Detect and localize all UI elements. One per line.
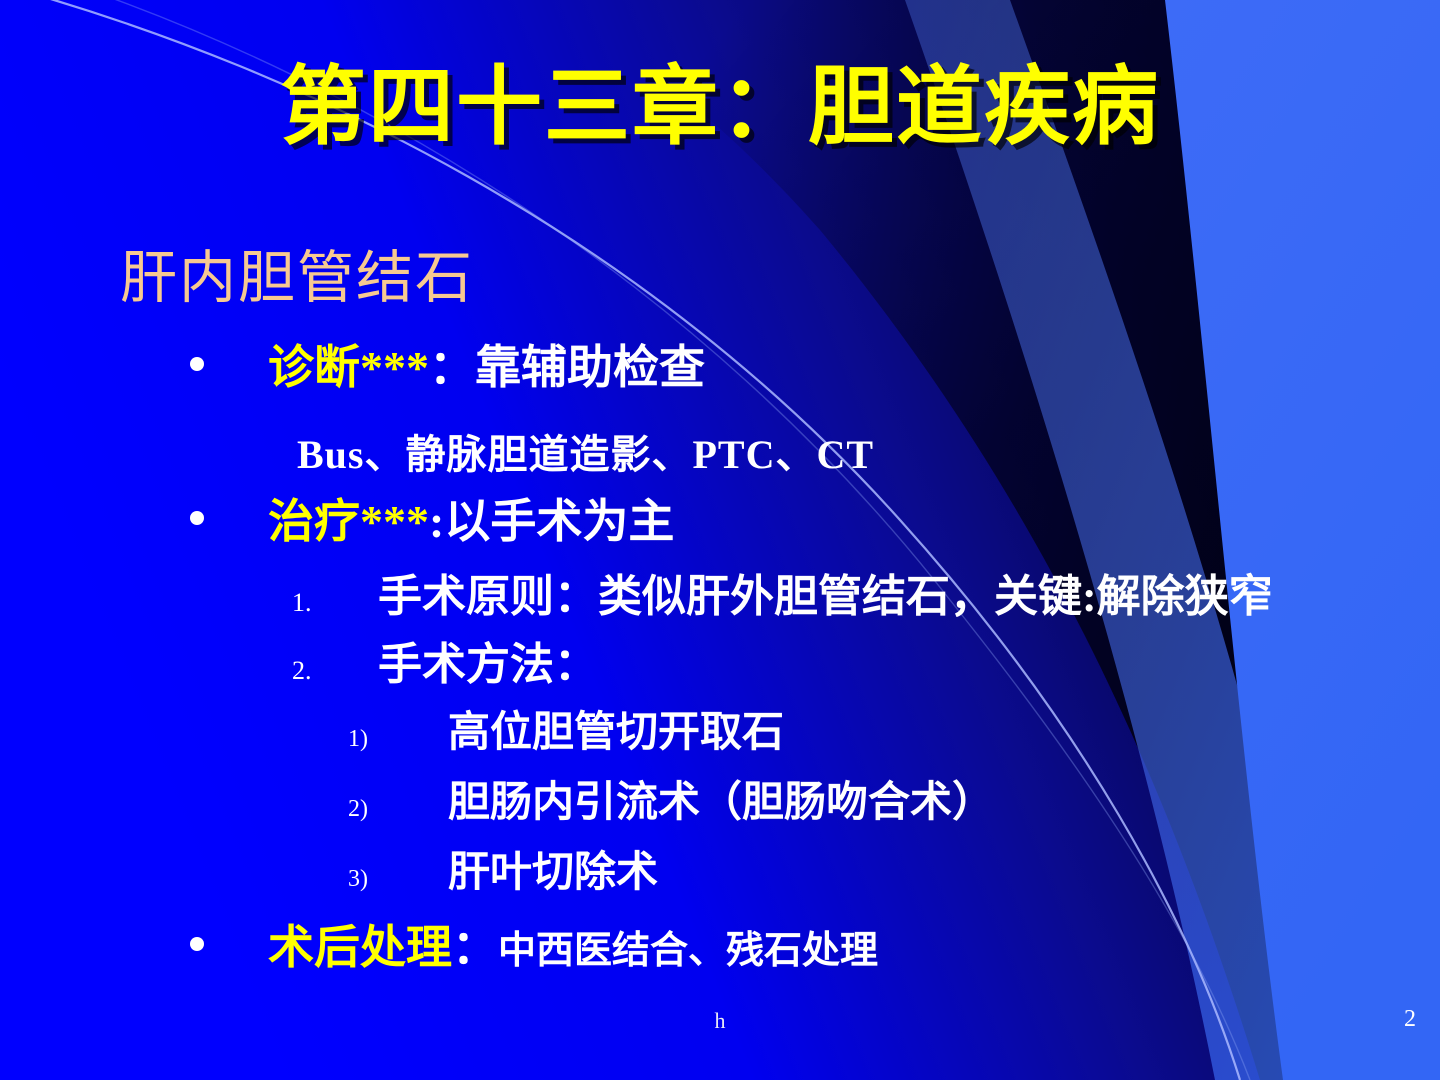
list-marker: 2) [348,796,448,823]
slide-page-number: 2 [1404,1006,1416,1033]
detail-diagnosis-methods: Bus、静脉胆道造影、PTC、CT [297,422,874,480]
bullet-dot-icon [190,350,268,390]
bullet-item-postoperative: 术后处理：中西医结合、残石处理 [190,922,878,974]
sub-item-3-text: 肝叶切除术 [448,850,658,897]
slide-heading: 肝内胆管结石 [120,248,474,311]
sub-item-1-text: 高位胆管切开取石 [448,710,784,757]
sub-item-high-duct-stone-removal: 1) 高位胆管切开取石 [348,710,784,757]
list-marker: 1) [348,726,448,753]
bullet-postoperative-rest: ： [452,922,498,973]
numbered-item-methods: 2. 手术方法： [292,640,598,689]
slide-footer-note: h [0,1008,1440,1034]
presentation-slide: 第四十三章：胆道疾病 肝内胆管结石 诊断***：靠辅助检查 Bus、静脉胆道造影… [0,0,1440,1080]
sub-item-bilioenteric-drainage: 2) 胆肠内引流术（胆肠吻合术） [348,780,994,827]
bullet-treatment-highlight: 治疗*** [268,496,429,547]
sub-item-hepatic-lobectomy: 3) 肝叶切除术 [348,850,658,897]
numbered-item-principle: 1. 手术原则：类似肝外胆管结石，关键:解除狭窄 [292,572,1273,621]
bullet-dot-icon [190,930,268,970]
bullet-item-diagnosis: 诊断***：靠辅助检查 [190,342,705,394]
list-marker: 2. [292,656,378,685]
bullet-diagnosis-rest: ：靠辅助检查 [429,342,705,393]
bullet-diagnosis-highlight: 诊断*** [268,342,429,393]
numbered-item-methods-text: 手术方法： [378,640,598,689]
bullet-postoperative-tail: 中西医结合、残石处理 [498,930,878,972]
bullet-dot-icon [190,504,268,544]
list-marker: 1. [292,588,378,617]
numbered-item-principle-text: 手术原则：类似肝外胆管结石，关键:解除狭窄 [378,572,1273,621]
slide-title: 第四十三章：胆道疾病 [0,62,1440,152]
bullet-treatment-rest: :以手术为主 [429,496,674,547]
bullet-item-treatment: 治疗***:以手术为主 [190,496,674,548]
sub-item-2-text: 胆肠内引流术（胆肠吻合术） [448,780,994,827]
list-marker: 3) [348,866,448,893]
bullet-postoperative-highlight: 术后处理 [268,922,452,973]
